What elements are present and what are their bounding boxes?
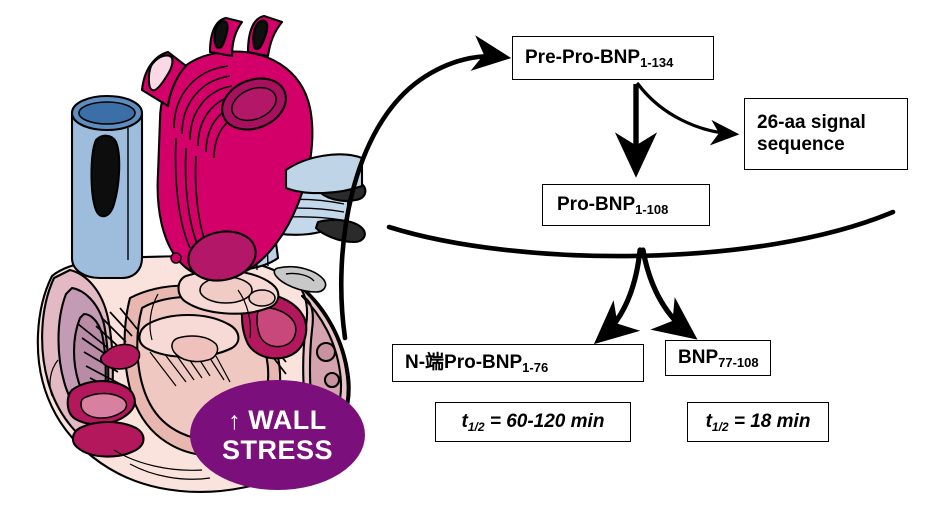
arrow-probnp-to-bnp xyxy=(643,250,690,334)
node-pre-pro-bnp[interactable]: Pre-Pro-BNP1-134 xyxy=(512,36,714,80)
node-bnp-label: BNP77-108 xyxy=(678,347,759,369)
wall-stress-word-wall: WALL xyxy=(248,405,326,435)
node-pre-pro-bnp-label: Pre-Pro-BNP1-134 xyxy=(525,47,673,69)
node-halflife-nt-pro-bnp[interactable]: t1/2 = 60-120 min xyxy=(435,402,631,442)
diagram-canvas: Pre-Pro-BNP1-134 26-aa signal sequence P… xyxy=(0,0,933,515)
up-arrow-icon: ↑ xyxy=(228,407,241,435)
arrow-preprobnp-to-signal xyxy=(638,84,733,134)
node-signal-sequence[interactable]: 26-aa signal sequence xyxy=(744,98,908,170)
wall-stress-callout[interactable]: ↑WALL STRESS xyxy=(190,380,365,490)
node-bnp[interactable]: BNP77-108 xyxy=(665,340,771,376)
arrow-probnp-to-ntprobnp xyxy=(601,250,640,338)
node-signal-sequence-label: 26-aa signal sequence xyxy=(757,112,907,156)
node-halflife-nt-pro-bnp-label: t1/2 = 60-120 min xyxy=(462,411,605,433)
node-halflife-bnp-label: t1/2 = 18 min xyxy=(706,411,811,433)
node-pro-bnp-label: Pro-BNP1-108 xyxy=(557,194,668,216)
node-nt-pro-bnp-label: N-端Pro-BNP1-76 xyxy=(405,352,548,374)
node-halflife-bnp[interactable]: t1/2 = 18 min xyxy=(687,402,829,442)
wall-stress-line-2: STRESS xyxy=(222,435,333,465)
wall-stress-line-1: ↑WALL xyxy=(228,405,326,435)
node-nt-pro-bnp[interactable]: N-端Pro-BNP1-76 xyxy=(392,344,644,382)
node-pro-bnp[interactable]: Pro-BNP1-108 xyxy=(542,184,710,226)
